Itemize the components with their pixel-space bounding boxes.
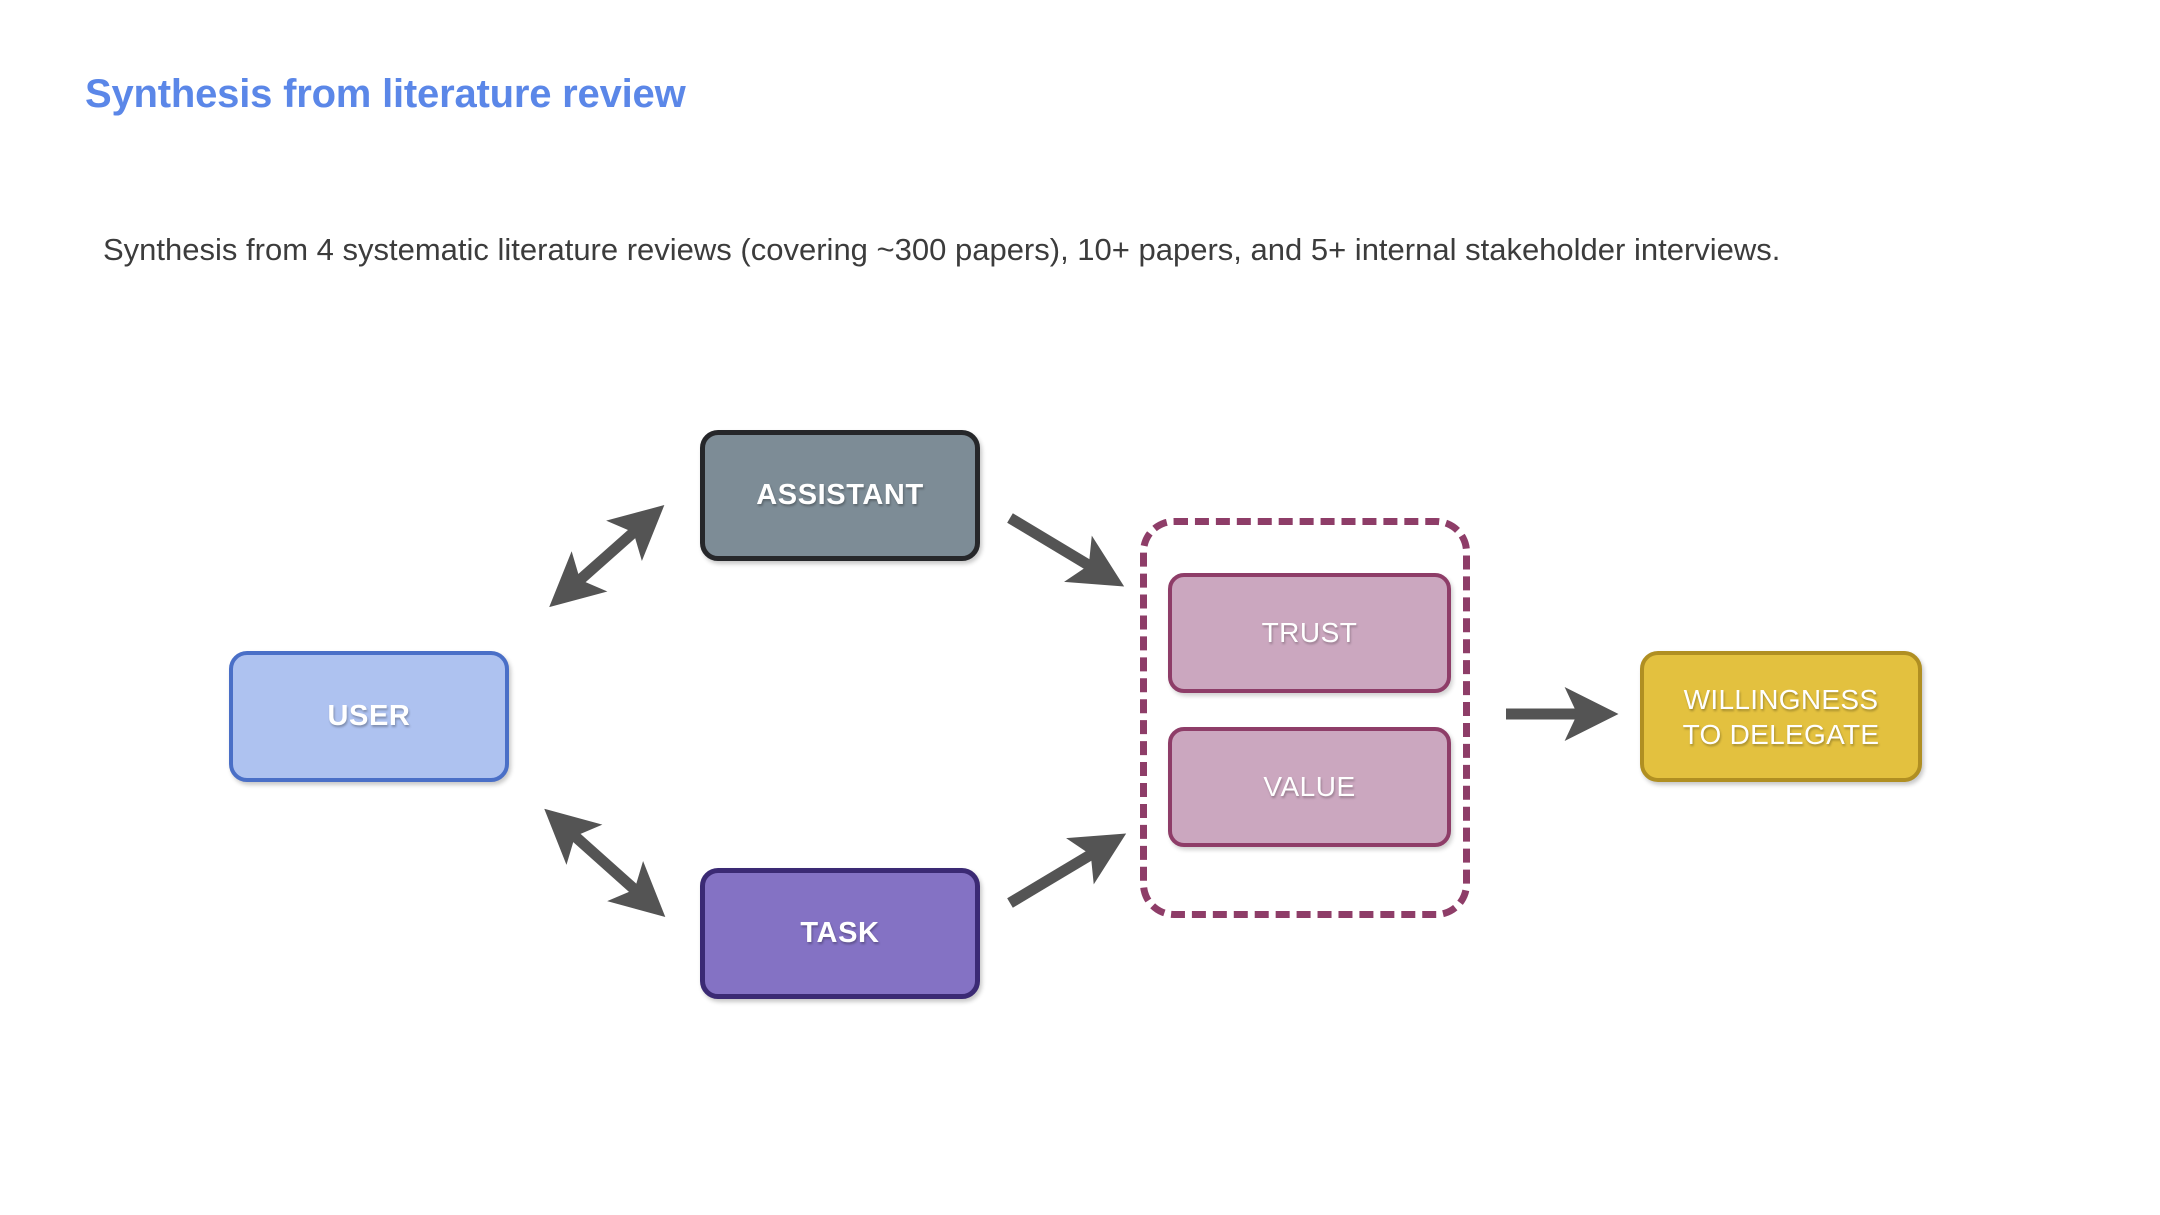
node-willingness-label-line1: WILLINGNESS [1684,684,1879,715]
slide-canvas: Synthesis from literature review Synthes… [0,0,2160,1215]
node-willingness-label: WILLINGNESS TO DELEGATE [1683,682,1880,752]
arrow-assistant-to-group [1010,518,1110,578]
node-user[interactable]: USER [229,651,509,782]
node-user-label: USER [328,699,411,733]
node-trust[interactable]: TRUST [1168,573,1451,693]
node-willingness-to-delegate[interactable]: WILLINGNESS TO DELEGATE [1640,651,1922,782]
arrow-task-to-group [1010,842,1112,903]
node-willingness-label-line2: TO DELEGATE [1683,719,1880,750]
node-trust-label: TRUST [1262,617,1358,649]
arrow-user-assistant [564,516,652,594]
node-assistant[interactable]: ASSISTANT [700,430,980,561]
node-assistant-label: ASSISTANT [756,478,924,512]
node-value[interactable]: VALUE [1168,727,1451,847]
node-value-label: VALUE [1263,771,1355,803]
synthesis-flow-diagram: USER ASSISTANT TASK TRUST VALUE WILLINGN… [0,0,2160,1215]
node-task-label: TASK [800,916,879,950]
arrow-user-task [559,822,653,906]
arrow-layer [0,0,2160,1215]
node-task[interactable]: TASK [700,868,980,999]
